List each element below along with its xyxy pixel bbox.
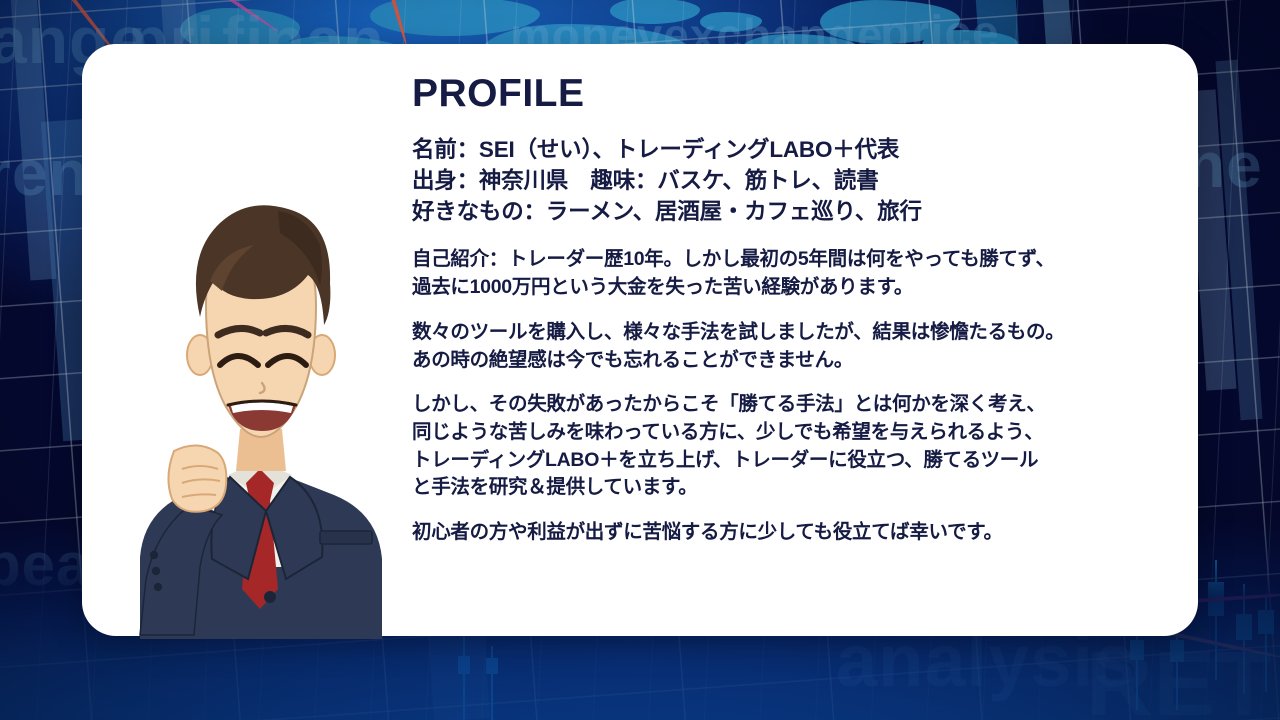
profile-card: PROFILE 名前：SEI（せい）、トレーディングLABO＋代表出身：神奈川県… <box>82 44 1198 636</box>
profile-summary-line: 名前：SEI（せい）、トレーディングLABO＋代表 <box>412 135 1162 166</box>
businessman-illustration <box>82 159 412 639</box>
profile-content: PROFILE 名前：SEI（せい）、トレーディングLABO＋代表出身：神奈川県… <box>412 44 1198 636</box>
profile-paragraph-turnaround: しかし、その失敗があったからこそ「勝てる手法」とは何かを深く考え、同じような苦し… <box>412 391 1162 502</box>
profile-paragraph-closing: 初心者の方や利益が出ずに苦悩する方に少しても役立てば幸いです。 <box>412 519 1162 547</box>
page-title: PROFILE <box>412 74 1162 113</box>
profile-paragraph-line: 同じような苦しみを味わっている方に、少しでも希望を与えられるよう、 <box>412 419 1162 447</box>
profile-summary-line: 出身：神奈川県 趣味：バスケ、筋トレ、読書 <box>412 166 1162 197</box>
profile-paragraph-intro: 自己紹介：トレーダー歴10年。しかし最初の5年間は何をやっても勝てず、過去に10… <box>412 246 1162 301</box>
profile-body: 自己紹介：トレーダー歴10年。しかし最初の5年間は何をやっても勝てず、過去に10… <box>412 246 1162 546</box>
profile-illustration <box>82 44 412 636</box>
profile-paragraph-line: 過去に1000万円という大金を失った苦い経験があります。 <box>412 274 1162 302</box>
profile-paragraph-line: と手法を研究＆提供しています。 <box>412 474 1162 502</box>
profile-paragraph-line: トレーディングLABO＋を立ち上げ、トレーダーに役立つ、勝てるツール <box>412 447 1162 475</box>
profile-paragraph-line: 初心者の方や利益が出ずに苦悩する方に少しても役立てば幸いです。 <box>412 519 1162 547</box>
profile-summary: 名前：SEI（せい）、トレーディングLABO＋代表出身：神奈川県 趣味：バスケ、… <box>412 135 1162 227</box>
profile-paragraph-line: 数々のツールを購入し、様々な手法を試しましたが、結果は惨憺たるもの。 <box>412 319 1162 347</box>
profile-summary-line: 好きなもの：ラーメン、居酒屋・カフェ巡り、旅行 <box>412 197 1162 228</box>
profile-paragraph-line: あの時の絶望感は今でも忘れることができません。 <box>412 347 1162 375</box>
profile-paragraph-struggle: 数々のツールを購入し、様々な手法を試しましたが、結果は惨憺たるもの。あの時の絶望… <box>412 319 1162 374</box>
profile-paragraph-line: 自己紹介：トレーダー歴10年。しかし最初の5年間は何をやっても勝てず、 <box>412 246 1162 274</box>
profile-paragraph-line: しかし、その失敗があったからこそ「勝てる手法」とは何かを深く考え、 <box>412 391 1162 419</box>
